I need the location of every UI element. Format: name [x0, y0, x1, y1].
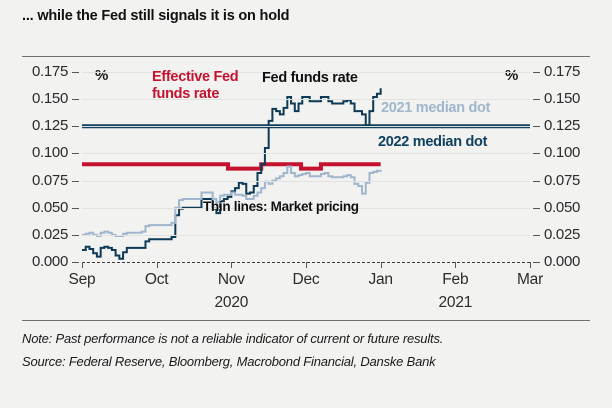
grid-line — [82, 153, 530, 154]
x-axis-label: Dec — [266, 271, 346, 289]
footer-source: Source: Federal Reserve, Bloomberg, Macr… — [22, 354, 435, 369]
x-axis-label: Mar — [490, 271, 570, 289]
grid-line — [82, 181, 530, 182]
y-axis-tick — [72, 153, 79, 154]
annotation-effective-fed-funds-line1: Effective Fed — [152, 69, 238, 86]
y-axis-label-right: 0.100 — [544, 144, 612, 161]
y-axis-label-right: 0.150 — [544, 90, 612, 107]
x-axis-tick — [82, 262, 83, 268]
x-axis-tick — [381, 262, 382, 268]
x-axis-tick — [157, 262, 158, 268]
grid-line — [82, 126, 530, 127]
x-axis-tick — [455, 262, 456, 268]
y-axis-tick — [72, 235, 79, 236]
y-axis-label-right: 0.000 — [544, 253, 612, 270]
y-axis-tick — [533, 235, 540, 236]
y-axis-tick — [533, 208, 540, 209]
y-axis-label-left: 0.050 — [0, 199, 68, 216]
chart-title: ... while the Fed still signals it is on… — [22, 8, 289, 24]
x-axis-label: Jan — [341, 271, 421, 289]
x-axis-label: Oct — [117, 271, 197, 289]
x-axis-year-label: 2021 — [415, 294, 495, 312]
x-axis-label: Sep — [42, 271, 122, 289]
y-axis-labels-left: 0.0000.0250.0500.0750.1000.1250.1500.175 — [0, 72, 68, 262]
x-axis-label: Feb — [415, 271, 495, 289]
x-axis-year-label: 2020 — [191, 294, 271, 312]
y-axis-tick — [72, 262, 79, 263]
y-axis-tick — [533, 181, 540, 182]
y-axis-tick — [533, 72, 540, 73]
y-axis-tick — [72, 181, 79, 182]
y-axis-tick — [72, 126, 79, 127]
y-axis-label-left: 0.000 — [0, 253, 68, 270]
annotation-effective-fed-funds: Effective Fed funds rate — [152, 69, 238, 103]
x-axis-tick — [231, 262, 232, 268]
y-axis-tick — [533, 126, 540, 127]
x-axis-tick — [306, 262, 307, 268]
y-axis-label-right: 0.050 — [544, 199, 612, 216]
grid-line — [82, 235, 530, 236]
y-axis-tick — [72, 208, 79, 209]
annotation-fed-funds-rate: Fed funds rate — [262, 70, 358, 86]
footer-divider — [22, 320, 590, 321]
y-axis-tick — [533, 99, 540, 100]
annotation-2021-median-dot: 2021 median dot — [381, 100, 490, 116]
y-axis-tick — [72, 99, 79, 100]
annotation-effective-fed-funds-line2: funds rate — [152, 86, 238, 103]
x-axis-tick — [530, 262, 531, 268]
y-axis-label-right: 0.175 — [544, 63, 612, 80]
y-axis-label-right: 0.125 — [544, 117, 612, 134]
y-axis-label-left: 0.175 — [0, 63, 68, 80]
y-axis-tick — [533, 153, 540, 154]
y-axis-label-left: 0.150 — [0, 90, 68, 107]
footer-note: Note: Past performance is not a reliable… — [22, 331, 443, 346]
header-divider — [22, 56, 590, 57]
y-axis-label-right: 0.075 — [544, 172, 612, 189]
y-axis-tick — [72, 72, 79, 73]
y-axis-label-right: 0.025 — [544, 226, 612, 243]
y-axis-label-left: 0.075 — [0, 172, 68, 189]
annotation-thin-lines: Thin lines: Market pricing — [203, 199, 359, 214]
series-effective-fed-funds-rate — [82, 164, 381, 168]
y-axis-label-left: 0.025 — [0, 226, 68, 243]
y-axis-label-left: 0.100 — [0, 144, 68, 161]
chart-root: ... while the Fed still signals it is on… — [0, 0, 612, 408]
y-axis-label-left: 0.125 — [0, 117, 68, 134]
y-axis-tick — [533, 262, 540, 263]
y-axis-labels-right: 0.0000.0250.0500.0750.1000.1250.1500.175 — [544, 72, 612, 262]
x-axis-label: Nov — [191, 271, 271, 289]
annotation-2022-median-dot: 2022 median dot — [378, 134, 487, 150]
